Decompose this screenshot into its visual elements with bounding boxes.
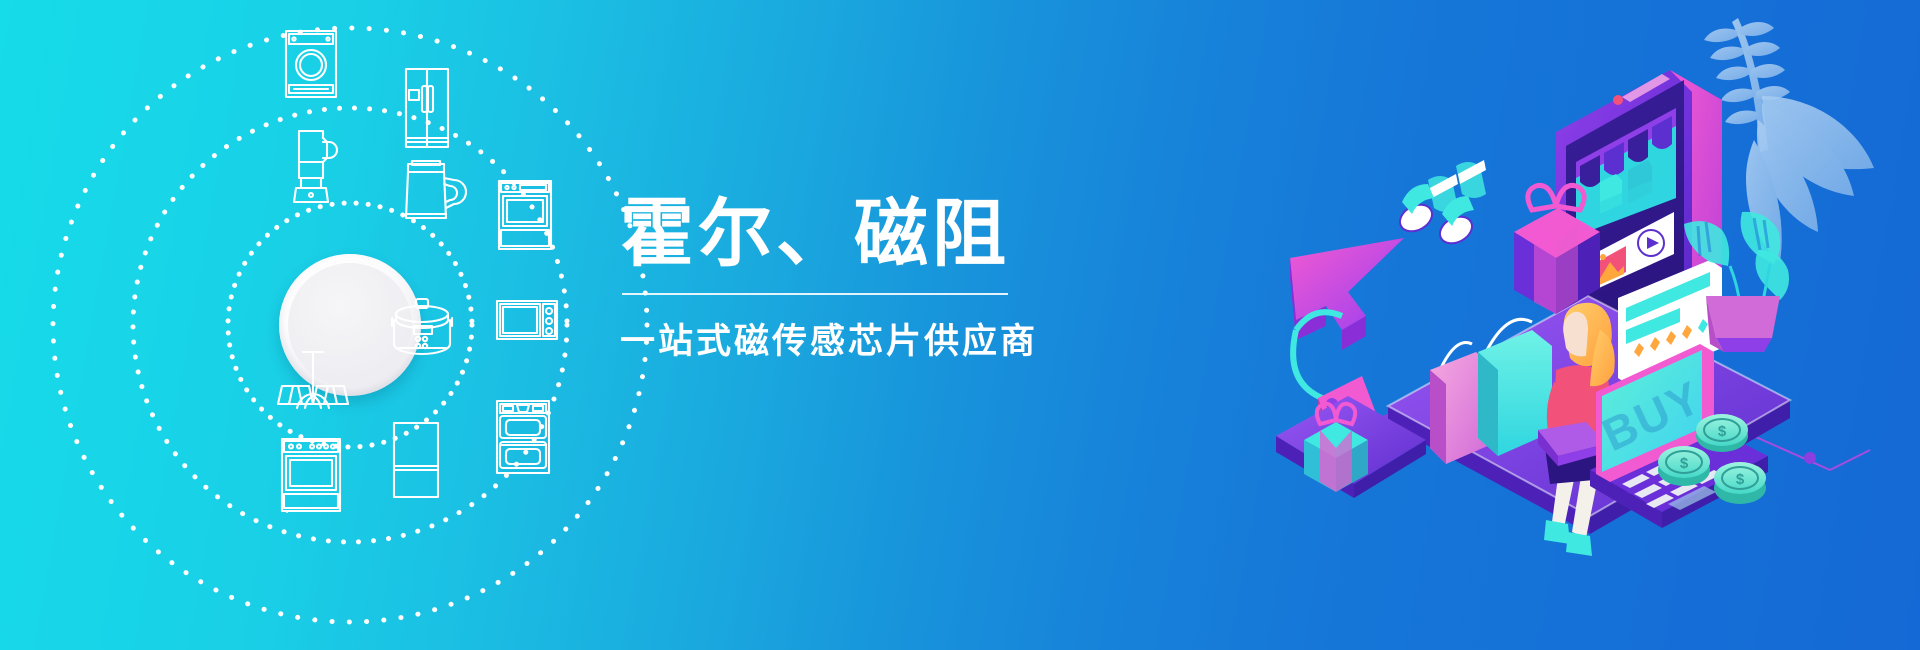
side-by-side-refrigerator-icon xyxy=(405,68,449,148)
middle-dotted-ring xyxy=(130,105,570,545)
double-wall-oven-icon xyxy=(496,400,550,474)
coin-symbol: $ xyxy=(1718,423,1727,440)
connector-node xyxy=(1804,452,1816,464)
microwave-icon xyxy=(496,300,558,340)
blender-icon xyxy=(289,128,333,206)
range-oven-icon xyxy=(498,180,552,250)
headline-divider xyxy=(622,293,1008,295)
banner-headline: 霍尔、磁阻 xyxy=(620,196,1040,271)
rice-cooker-icon xyxy=(390,298,454,358)
coin-symbol: $ xyxy=(1736,471,1745,488)
inner-dotted-ring xyxy=(225,200,475,450)
stove-icon xyxy=(281,438,341,512)
washing-machine-icon xyxy=(285,30,337,98)
ecommerce-illustration: BUY xyxy=(1270,0,1910,650)
banner-copy: 霍尔、磁阻 一站式磁传感芯片供应商 xyxy=(620,196,1040,364)
coin-symbol: $ xyxy=(1680,455,1689,472)
outer-dotted-ring xyxy=(50,25,650,625)
chandelier-icon xyxy=(275,350,351,416)
hero-banner: 霍尔、磁阻 一站式磁传感芯片供应商 xyxy=(0,0,1920,650)
electric-kettle-icon xyxy=(400,160,460,230)
banner-subheadline: 一站式磁传感芯片供应商 xyxy=(620,313,1040,364)
cursor-arrow xyxy=(1290,238,1404,350)
center-disc xyxy=(279,254,421,396)
shoes-pair xyxy=(1395,160,1486,249)
bottom-freezer-refrigerator-icon xyxy=(393,422,439,498)
plant-pot xyxy=(1706,296,1780,352)
appliance-ring-graphic xyxy=(0,0,700,650)
